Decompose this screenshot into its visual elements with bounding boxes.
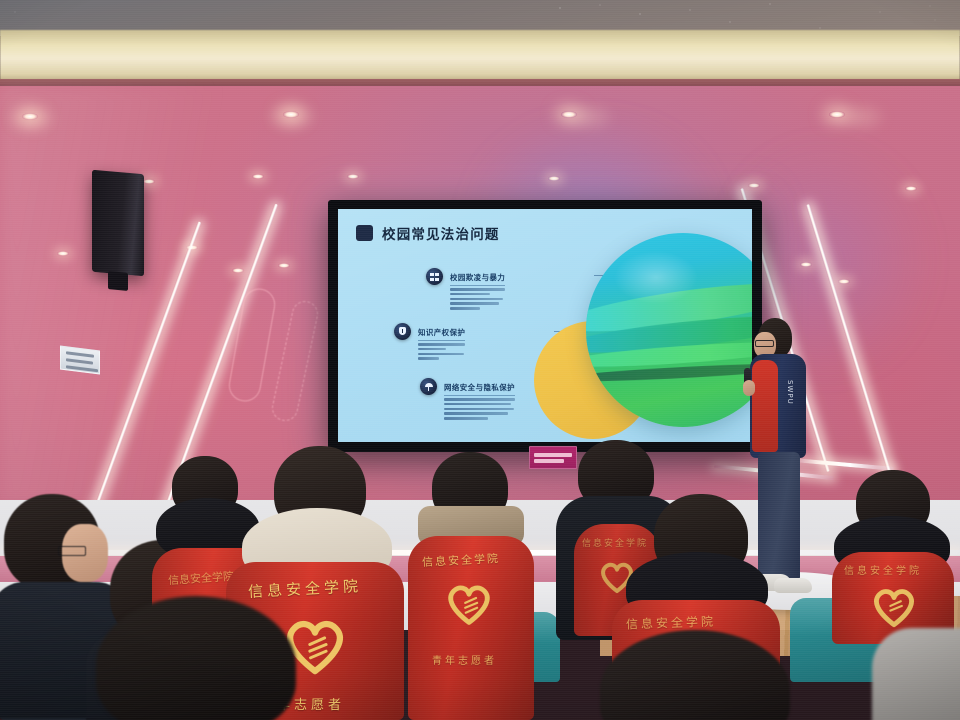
downlight <box>800 262 812 267</box>
downlight <box>278 263 290 268</box>
downlight <box>748 183 760 188</box>
volunteer-vest: 信息安全学院 青年志愿者 <box>408 536 534 720</box>
audience-hair <box>96 596 296 720</box>
downlight <box>829 111 845 118</box>
audience-member-foreground <box>872 628 960 720</box>
slide-canvas: 校园常见法治问题 校园欺凌与暴力 <box>338 209 752 442</box>
title-square-icon <box>356 225 373 241</box>
audience-body <box>872 628 960 720</box>
downlight <box>838 279 850 284</box>
bullet-body <box>450 288 505 310</box>
vest-bottom-text: 青年志愿者 <box>432 652 497 667</box>
lecture-hall-photo: 校园常见法治问题 校园欺凌与暴力 <box>0 0 960 720</box>
downlight <box>347 174 359 179</box>
bullet-heading: 校园欺凌与暴力 <box>450 272 505 286</box>
downlight <box>22 113 38 120</box>
gradient-sphere-graphic <box>586 233 752 427</box>
bullet-heading: 知识产权保护 <box>418 327 465 341</box>
downlight <box>252 174 264 179</box>
audience-hair <box>600 630 790 720</box>
heart-hand-icon <box>444 582 494 626</box>
umbrella-icon <box>420 378 437 395</box>
slide-title-row: 校园常见法治问题 <box>356 223 500 243</box>
presenter-hand <box>743 380 755 396</box>
presentation-display[interactable]: 校园常见法治问题 校园欺凌与暴力 <box>328 200 762 452</box>
bullet-body <box>444 398 515 420</box>
slide-bullet: 校园欺凌与暴力 <box>426 267 594 312</box>
wall-speaker-bracket <box>108 271 128 291</box>
audience-member-volunteer: 信息安全学院 <box>828 470 958 640</box>
downlight <box>561 111 577 118</box>
downlight <box>143 179 155 184</box>
display-screen: 校园常见法治问题 校园欺凌与暴力 <box>338 209 752 442</box>
audience-member-volunteer: 信息安全学院 青年志愿者 <box>400 452 542 720</box>
grid-window-icon <box>426 268 443 285</box>
wall-notice-sign <box>60 346 100 375</box>
shield-icon <box>394 323 411 340</box>
downlight-halo <box>548 94 628 140</box>
presenter-glasses <box>755 340 774 347</box>
audience-member-foreground <box>96 596 296 720</box>
downlight <box>283 111 299 118</box>
vest-top-text: 信息安全学院 <box>844 562 922 577</box>
downlight <box>57 251 69 256</box>
presenter-sleeve-text: SWPU <box>786 380 794 405</box>
wall-speaker <box>92 170 144 277</box>
bullet-body <box>418 343 465 360</box>
downlight <box>905 186 917 191</box>
heart-hand-icon <box>870 586 918 628</box>
ceiling-cove-light <box>0 30 960 82</box>
presenter-red-vest <box>752 360 778 452</box>
slide-bullet: 知识产权保护 <box>394 322 554 362</box>
downlight <box>548 176 560 181</box>
slide-title: 校园常见法治问题 <box>382 223 500 243</box>
downlight <box>232 268 244 273</box>
audience-member-foreground <box>600 630 790 720</box>
bullet-heading: 网络安全与隐私保护 <box>444 382 515 396</box>
audience-glasses <box>58 546 86 556</box>
